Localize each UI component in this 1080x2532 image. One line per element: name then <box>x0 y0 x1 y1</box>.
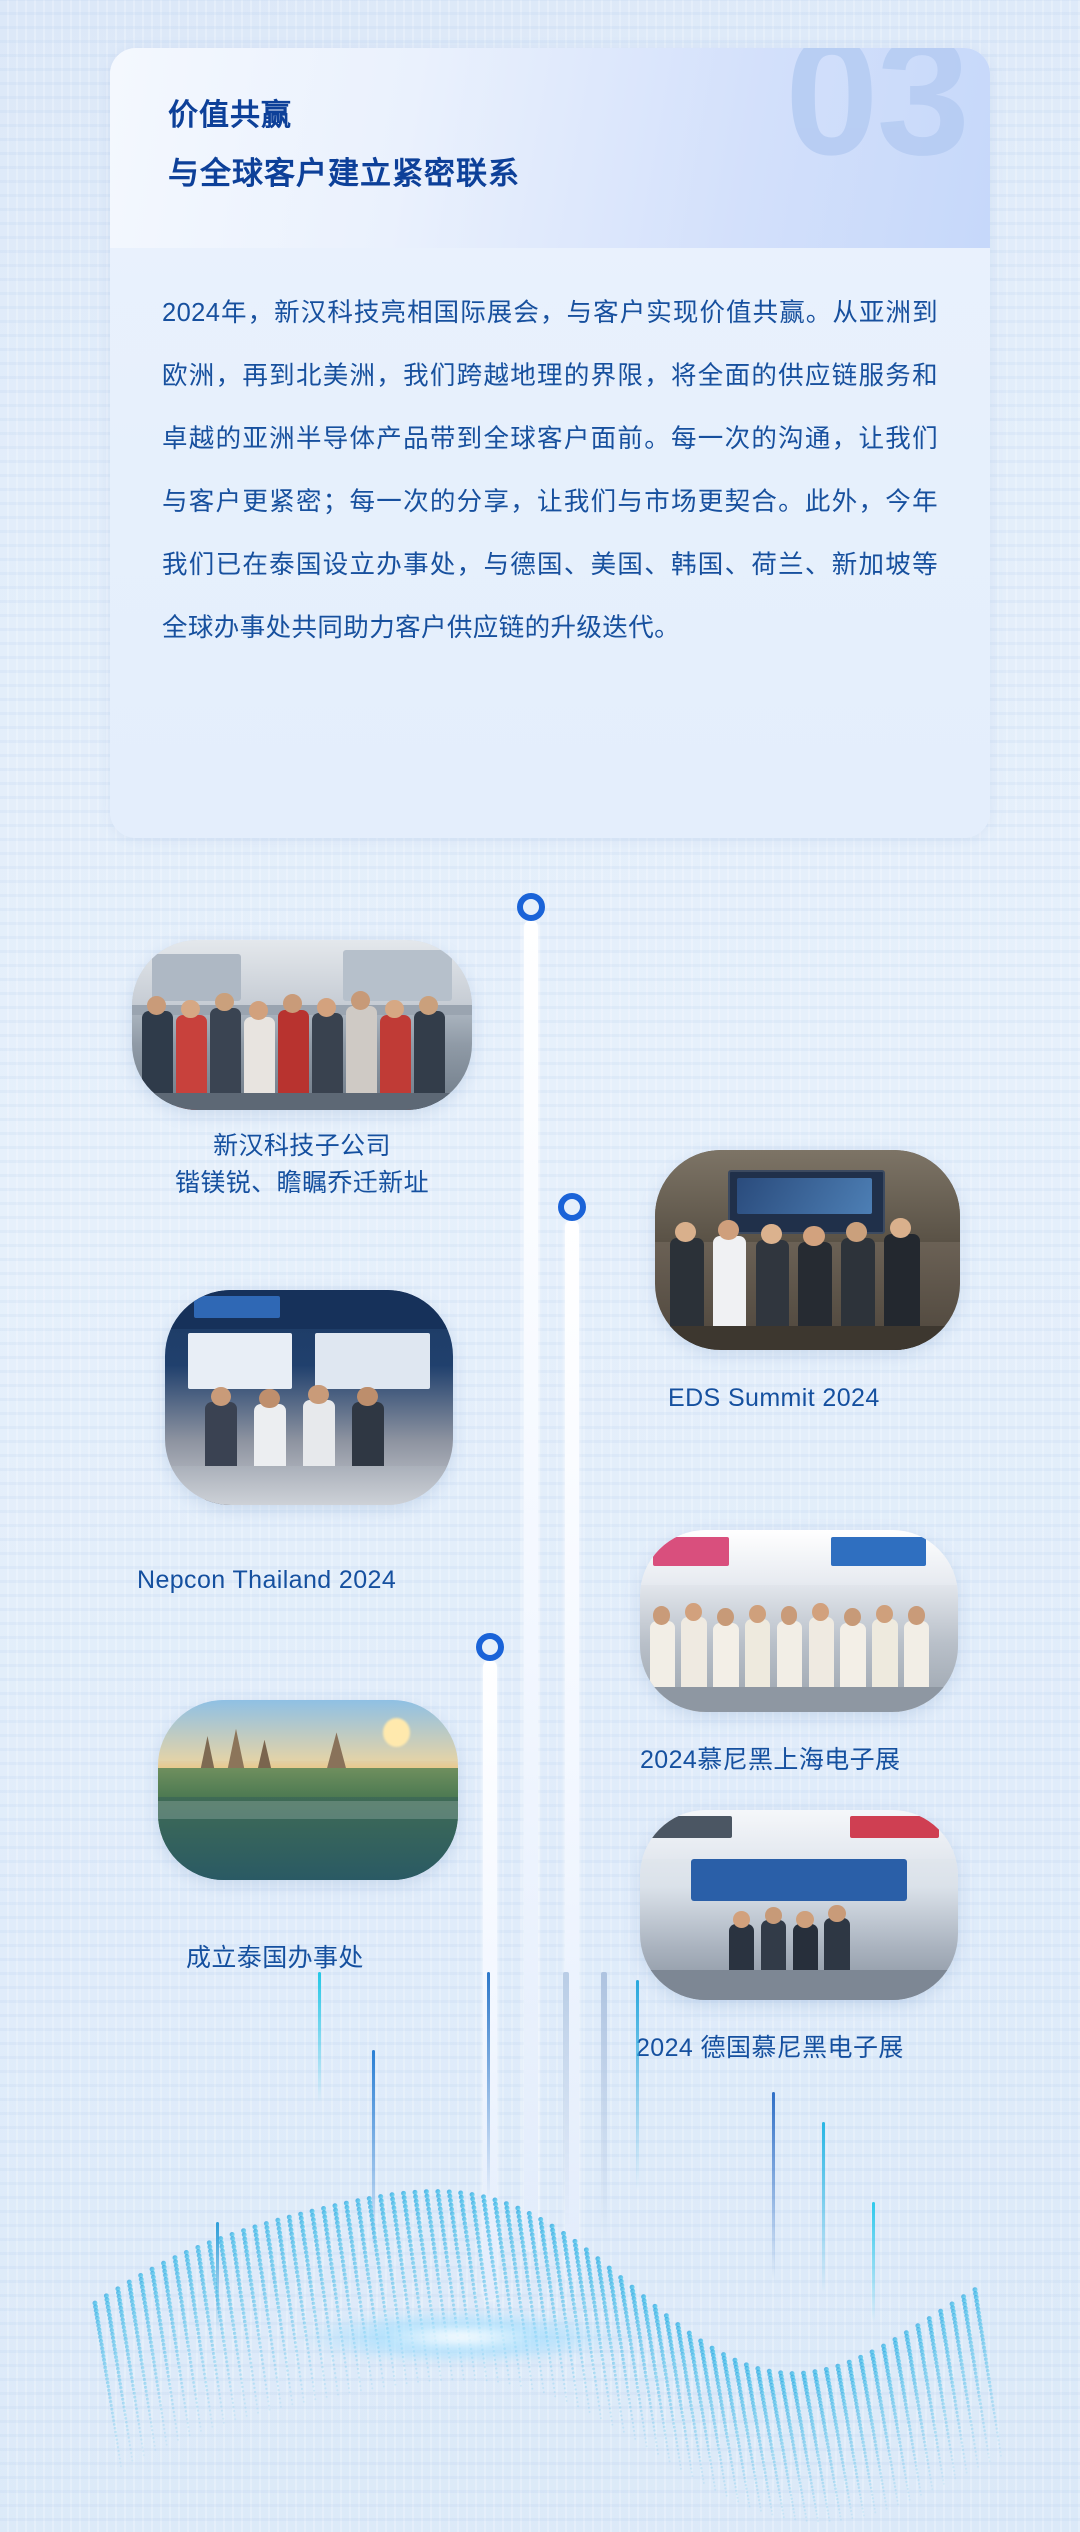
caption-munich-shanghai: 2024慕尼黑上海电子展 <box>640 1742 900 1779</box>
photo-thailand-office <box>158 1700 458 1880</box>
section-number: 03 <box>785 48 968 180</box>
timeline-marker-1 <box>517 893 545 921</box>
caption-new-office-line2: 锴镁锐、瞻瞩乔迁新址 <box>132 1165 472 1202</box>
photo-munich-shanghai <box>640 1530 958 1712</box>
photo-group-new-office <box>132 940 472 1110</box>
card-paragraph: 2024年，新汉科技亮相国际展会，与客户实现价值共赢。从亚洲到欧洲，再到北美洲，… <box>162 282 938 660</box>
wave-dot-field <box>0 1972 1080 2532</box>
decorative-wave-graphic <box>0 1972 1080 2532</box>
caption-nepcon-thailand: Nepcon Thailand 2024 <box>137 1562 396 1599</box>
photo-eds-summit <box>655 1150 960 1350</box>
caption-new-office: 新汉科技子公司 锴镁锐、瞻瞩乔迁新址 <box>132 1128 472 1202</box>
wave-glow <box>300 2310 620 2364</box>
timeline-marker-2 <box>558 1193 586 1221</box>
timeline-marker-3 <box>476 1633 504 1661</box>
card-title: 价值共赢 <box>168 90 292 134</box>
card-subtitle: 与全球客户建立紧密联系 <box>168 148 520 193</box>
card-body: 2024年，新汉科技亮相国际展会，与客户实现价值共赢。从亚洲到欧洲，再到北美洲，… <box>110 248 990 660</box>
caption-eds-summit: EDS Summit 2024 <box>668 1380 880 1417</box>
card-header: 03 价值共赢 与全球客户建立紧密联系 <box>110 48 990 248</box>
intro-card: 03 价值共赢 与全球客户建立紧密联系 2024年，新汉科技亮相国际展会，与客户… <box>110 48 990 838</box>
photo-nepcon-thailand <box>165 1290 453 1505</box>
caption-new-office-line1: 新汉科技子公司 <box>132 1128 472 1165</box>
